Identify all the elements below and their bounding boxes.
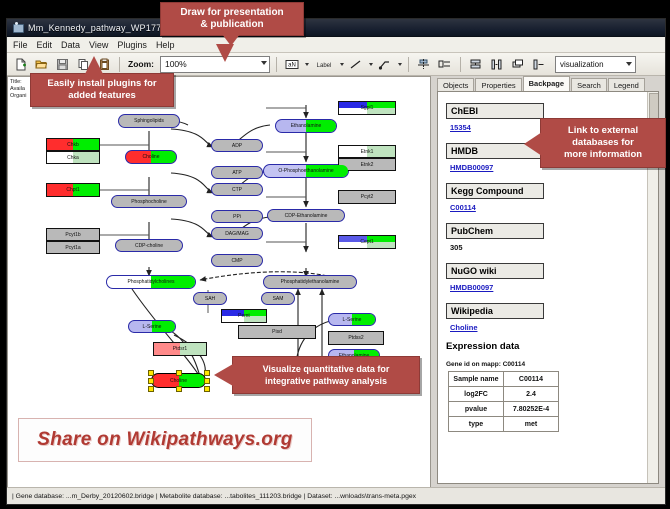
status-text: | Gene database: ...m_Derby_20120602.bri…: [7, 493, 416, 500]
callout-share: Share on Wikipathways.org: [18, 418, 312, 462]
selection-handle[interactable]: [176, 370, 182, 376]
section-header-chebi: ChEBI: [446, 103, 544, 119]
tab-objects[interactable]: Objects: [437, 78, 474, 92]
order-icon[interactable]: [509, 55, 527, 73]
node-pcyt2[interactable]: Pcyt2: [338, 190, 396, 204]
app-icon: [12, 22, 23, 33]
status-bar: | Gene database: ...m_Derby_20120602.bri…: [7, 487, 665, 504]
node-label: L-Serine: [342, 317, 363, 323]
node-ppi[interactable]: PPi: [211, 210, 263, 223]
node-label: Phosphatidylethanolamine: [280, 279, 341, 285]
node-ctp[interactable]: CTP: [211, 183, 263, 196]
node-label: CMP: [230, 258, 243, 264]
node-label: ATP: [231, 170, 242, 176]
node-ptdss2[interactable]: Ptdss2: [328, 331, 384, 345]
svg-text:aN: aN: [288, 62, 296, 68]
expression-table: Sample name C00114 log2FC 2.4 pvalue 7.8…: [448, 371, 559, 432]
node-pemt[interactable]: Pemt: [221, 309, 267, 323]
visualization-combo[interactable]: visualization: [555, 56, 636, 73]
node-chpt1[interactable]: Chpt1: [46, 183, 100, 197]
group-icon[interactable]: [436, 55, 454, 73]
callout-links-line2: databases for: [572, 137, 634, 149]
table-row: pvalue 7.80252E-4: [449, 402, 559, 417]
chevron-down-icon: [626, 62, 632, 66]
open-icon[interactable]: [32, 55, 50, 73]
visualization-value: visualization: [560, 60, 604, 69]
node-label: Phosphocholine: [130, 199, 168, 205]
selection-handle[interactable]: [148, 386, 154, 392]
node-ptdsr1[interactable]: Ptdsr1: [153, 342, 207, 356]
meta-title-label: Title:: [10, 79, 27, 86]
node-cmp[interactable]: CMP: [211, 254, 263, 267]
selection-handle[interactable]: [204, 378, 210, 384]
node-label: CTP: [231, 187, 243, 193]
node-pcyt1b[interactable]: Pcyt1b: [46, 228, 100, 241]
node-label: Pemt: [237, 313, 251, 319]
callout-draw: Draw for presentation & publication: [160, 2, 304, 36]
node-label: Chpt1: [65, 187, 80, 193]
callout-draw-line2: & publication: [200, 19, 263, 31]
node-label: Pcyt1b: [64, 232, 81, 238]
callout-visualize-tail-icon: [214, 364, 233, 386]
node-adp[interactable]: ADP: [211, 139, 263, 152]
node-label: Pisd: [271, 329, 283, 335]
stack-icon[interactable]: [467, 55, 485, 73]
node-label: Choline: [142, 154, 161, 160]
node-label: Ptdss2: [347, 335, 364, 341]
toolbar-separator: [460, 57, 461, 72]
cell-key: Sample name: [449, 372, 504, 387]
node-sphingolipids[interactable]: Sphingolipids: [118, 114, 180, 128]
node-sah[interactable]: SAH: [193, 292, 227, 305]
callout-visualize-line1: Visualize quantitative data for: [263, 363, 390, 375]
node-pcyt1a[interactable]: Pcyt1a: [46, 241, 100, 254]
cell-key: log2FC: [449, 387, 504, 402]
interaction-icon[interactable]: [376, 55, 394, 73]
node-label: Etnk2: [360, 162, 375, 168]
node-label: O-Phosphoethanolamine: [277, 168, 334, 174]
node-label: Ptdsr1: [172, 346, 188, 352]
callout-plugins-line1: Easily install plugins for: [47, 78, 156, 90]
node-label: PPi: [232, 214, 242, 220]
node-label: Phosphatidylcholines: [127, 279, 176, 285]
toolbar-separator: [276, 57, 277, 72]
selection-handle[interactable]: [176, 386, 182, 392]
cell-key: pvalue: [449, 402, 504, 417]
chevron-down-icon[interactable]: [305, 63, 309, 66]
callout-draw-tail2-icon: [216, 44, 234, 62]
datanode-icon[interactable]: aN: [283, 55, 301, 73]
node-label: ADP: [231, 143, 243, 149]
node-label: Chkb: [66, 142, 80, 148]
node-sgpl1[interactable]: Sgpl1: [338, 101, 396, 115]
share-text: Share on Wikipathways.org: [37, 429, 292, 451]
node-label: Ethanolamine: [290, 123, 323, 129]
pathway-meta: Title: Availa Organi: [10, 79, 27, 100]
node-label: Etnk1: [360, 149, 375, 155]
cell-value: C00114: [504, 372, 559, 387]
chevron-down-icon: [261, 61, 267, 65]
callout-visualize: Visualize quantitative data for integrat…: [232, 356, 420, 394]
selection-handle[interactable]: [148, 370, 154, 376]
node-dagmag[interactable]: DAG/MAG: [211, 227, 263, 240]
gene-id-line: Gene id on mapp: C00114: [446, 361, 648, 368]
node-label: Sphingolipids: [133, 118, 165, 124]
menu-item-view[interactable]: View: [89, 40, 108, 50]
line-icon[interactable]: [347, 55, 365, 73]
kegg-link[interactable]: C00114: [450, 203, 648, 212]
cell-value: met: [504, 417, 559, 432]
layout-icon[interactable]: [530, 55, 548, 73]
table-row: Sample name C00114: [449, 372, 559, 387]
zoom-label: Zoom:: [128, 59, 154, 69]
cell-value: 2.4: [504, 387, 559, 402]
wikipedia-link[interactable]: Choline: [450, 323, 648, 332]
node-phosphatidylethanolamine[interactable]: Phosphatidylethanolamine: [263, 275, 357, 289]
node-chka[interactable]: Chka: [46, 151, 100, 164]
tab-backpage[interactable]: Backpage: [523, 76, 570, 91]
callout-plugins-tail-icon: [85, 56, 103, 74]
callout-draw-line1: Draw for presentation: [180, 7, 283, 19]
tab-legend[interactable]: Legend: [608, 78, 645, 92]
chevron-down-icon[interactable]: [340, 63, 344, 66]
node-chkb[interactable]: Chkb: [46, 138, 100, 151]
node-label: Sgpl1: [360, 105, 375, 111]
node-label: Pcyt2: [360, 194, 375, 200]
node-cept1[interactable]: Cept1: [338, 235, 396, 249]
menu-item-edit[interactable]: Edit: [37, 40, 53, 50]
callout-links-line1: Link to external: [568, 125, 638, 137]
menu-bar: File Edit Data View Plugins Help: [7, 37, 665, 53]
label-icon[interactable]: Label: [312, 55, 336, 73]
title-bar: Mm_Kennedy_pathway_WP1771_45176.gpml: [7, 19, 665, 37]
node-pisd[interactable]: Pisd: [238, 325, 316, 339]
node-ethanolamine-top[interactable]: Ethanolamine: [275, 119, 337, 133]
node-atp[interactable]: ATP: [211, 166, 263, 179]
section-header-wikipedia: Wikipedia: [446, 303, 544, 319]
node-choline-top[interactable]: Choline: [125, 150, 177, 164]
node-label: DAG/MAG: [224, 231, 250, 237]
toolbar-separator: [119, 57, 120, 72]
toolbar-separator: [408, 57, 409, 72]
callout-plugins-line2: added features: [68, 90, 136, 102]
chevron-down-icon[interactable]: [398, 63, 402, 66]
cell-key: type: [449, 417, 504, 432]
zoom-combo[interactable]: 100%: [160, 56, 270, 73]
node-label: L-Serine: [142, 324, 163, 330]
svg-text:Label: Label: [317, 63, 332, 69]
node-label: CDP-choline: [134, 243, 164, 249]
node-l-serine-right[interactable]: L-Serine: [328, 313, 376, 326]
side-tab-bar: Objects Properties Backpage Search Legen…: [431, 76, 663, 91]
distribute-icon[interactable]: [488, 55, 506, 73]
callout-links-tail-icon: [524, 132, 542, 156]
node-label: SAM: [272, 296, 285, 302]
menu-item-file[interactable]: File: [13, 40, 28, 50]
node-phosphocholine[interactable]: Phosphocholine: [111, 195, 187, 208]
zoom-value: 100%: [165, 59, 187, 69]
node-phosphatidylcholines[interactable]: Phosphatidylcholines: [106, 275, 196, 289]
callout-links: Link to external databases for more info…: [540, 118, 666, 168]
node-cdp-choline[interactable]: CDP-choline: [115, 239, 183, 252]
pubchem-value: 305: [450, 243, 648, 252]
callout-plugins: Easily install plugins for added feature…: [30, 73, 174, 107]
node-o-phosphoethanolamine[interactable]: O-Phosphoethanolamine: [263, 164, 349, 178]
chevron-down-icon[interactable]: [369, 63, 373, 66]
node-etnk1[interactable]: Etnk1: [338, 145, 396, 158]
new-icon[interactable]: [11, 55, 29, 73]
save-icon[interactable]: [53, 55, 71, 73]
node-l-serine-left[interactable]: L-Serine: [128, 320, 176, 333]
section-header-pubchem: PubChem: [446, 223, 544, 239]
node-label: Cept1: [359, 239, 374, 245]
tab-properties[interactable]: Properties: [475, 78, 521, 92]
node-cdp-ethanolamine[interactable]: CDP-Ethanolamine: [267, 209, 345, 222]
node-label: SAH: [204, 296, 216, 302]
meta-organism-label: Organi: [10, 93, 27, 100]
screenshot-root: Mm_Kennedy_pathway_WP1771_45176.gpml Fil…: [0, 0, 670, 509]
section-header-nugo: NuGO wiki: [446, 263, 544, 279]
section-header-kegg: Kegg Compound: [446, 183, 544, 199]
node-label: Choline: [169, 378, 188, 384]
selection-handle[interactable]: [204, 370, 210, 376]
menu-item-help[interactable]: Help: [156, 40, 175, 50]
align-icon[interactable]: [415, 55, 433, 73]
tab-search[interactable]: Search: [571, 78, 607, 92]
selection-handle[interactable]: [148, 378, 154, 384]
node-label: Chka: [66, 155, 80, 161]
table-row: log2FC 2.4: [449, 387, 559, 402]
cell-value: 7.80252E-4: [504, 402, 559, 417]
meta-available-label: Availa: [10, 86, 27, 93]
table-row: type met: [449, 417, 559, 432]
selection-handle[interactable]: [204, 386, 210, 392]
expression-data-title: Expression data: [446, 341, 648, 352]
callout-links-line3: more information: [564, 149, 642, 161]
node-label: CDP-Ethanolamine: [284, 213, 329, 219]
menu-item-data[interactable]: Data: [61, 40, 80, 50]
callout-visualize-line2: integrative pathway analysis: [265, 375, 387, 387]
menu-item-plugins[interactable]: Plugins: [117, 40, 147, 50]
nugo-link[interactable]: HMDB00097: [450, 283, 648, 292]
node-sam[interactable]: SAM: [261, 292, 295, 305]
node-label: Pcyt1a: [64, 245, 81, 251]
